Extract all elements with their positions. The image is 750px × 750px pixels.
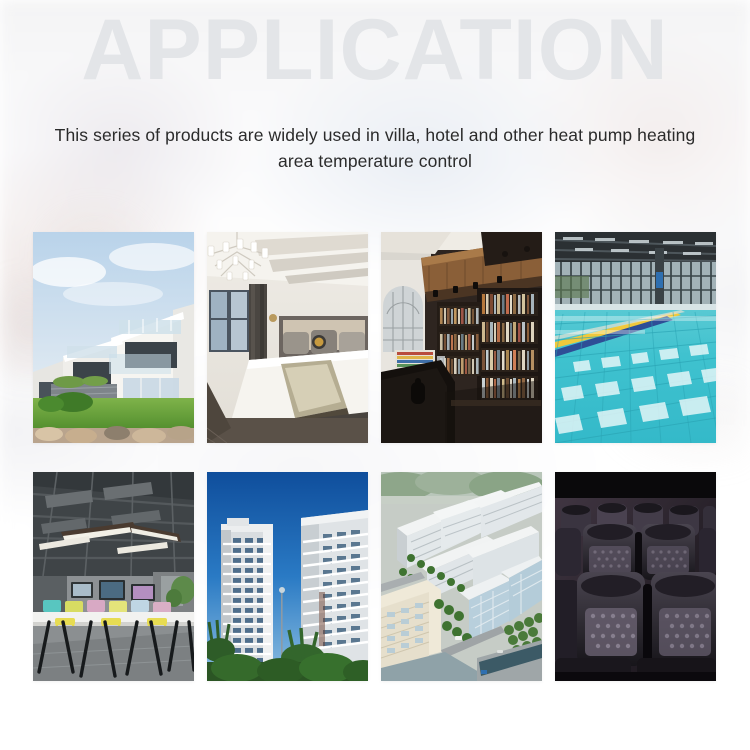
photo-villa[interactable] — [33, 232, 194, 443]
photo-library[interactable] — [381, 232, 542, 443]
gallery-row — [33, 472, 720, 681]
photo-pool[interactable] — [555, 232, 716, 443]
watermark-title: APPLICATION — [0, 4, 750, 96]
section-subtitle: This series of products are widely used … — [35, 122, 715, 174]
application-gallery — [33, 232, 720, 681]
application-section: APPLICATION This series of products are … — [0, 0, 750, 750]
subtitle-line-1: This series of products are widely used … — [55, 125, 583, 145]
photo-towers[interactable] — [207, 472, 368, 681]
photo-bedroom[interactable] — [207, 232, 368, 443]
photo-campus[interactable] — [381, 472, 542, 681]
photo-cinema[interactable] — [555, 472, 716, 681]
photo-office[interactable] — [33, 472, 194, 681]
gallery-row — [33, 232, 720, 443]
background-bottom-fade — [0, 690, 750, 750]
